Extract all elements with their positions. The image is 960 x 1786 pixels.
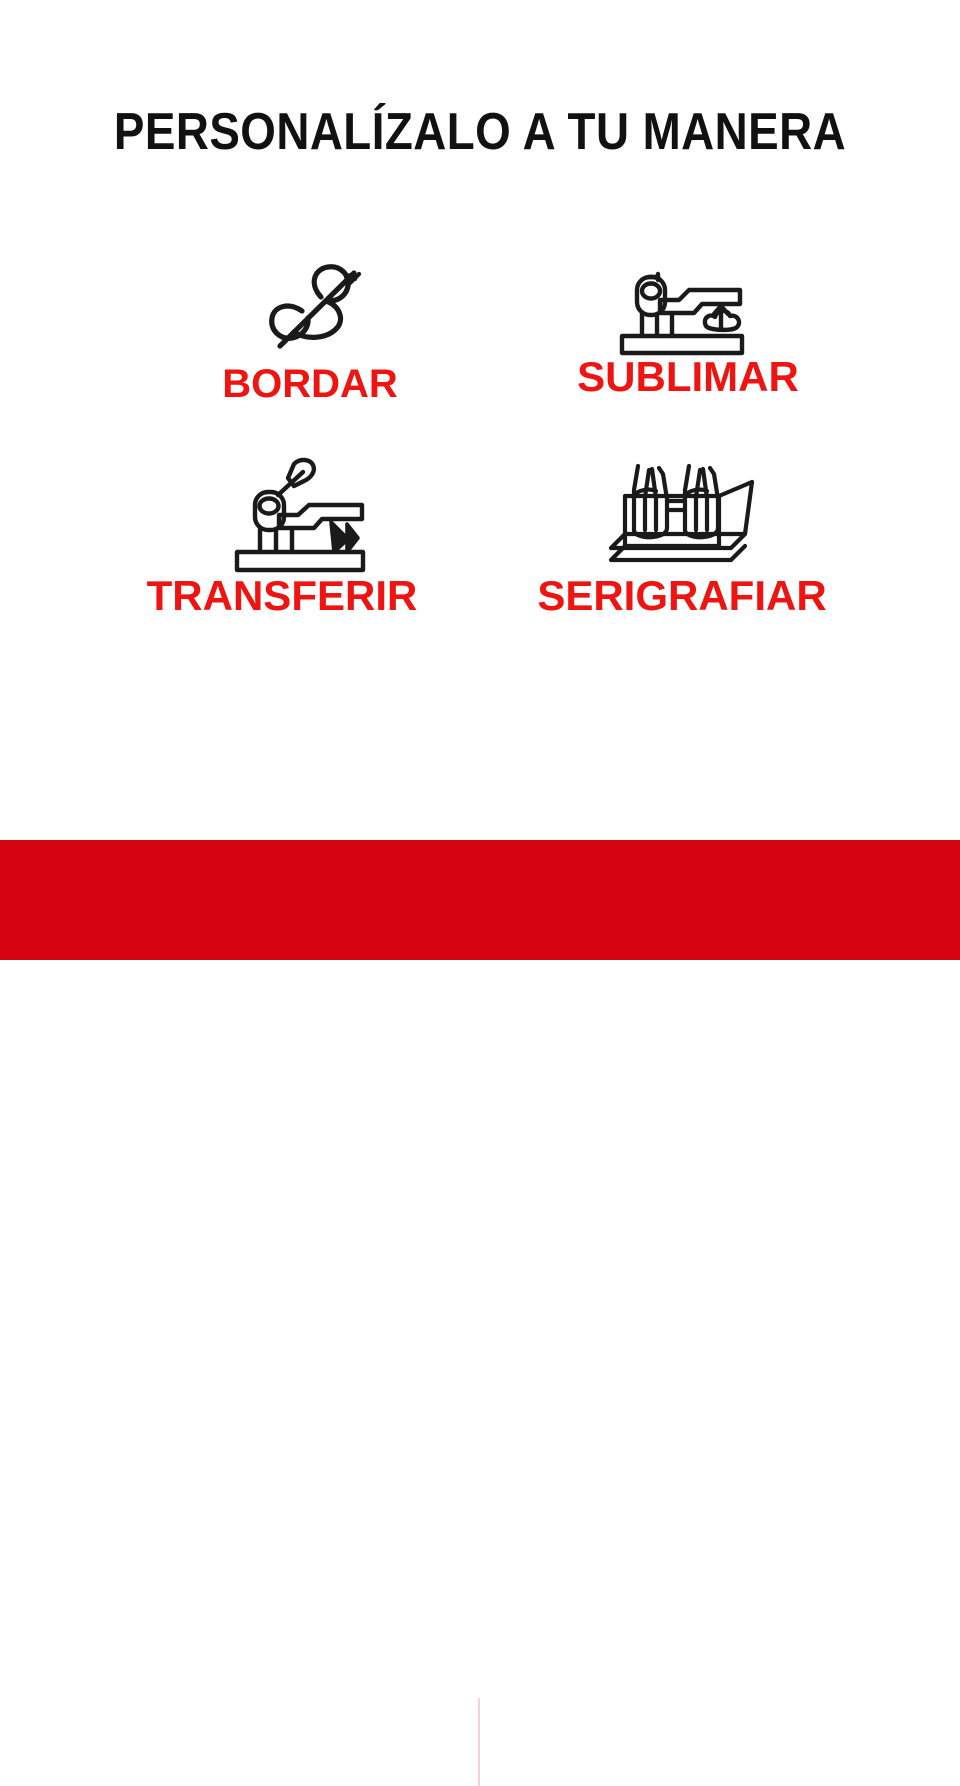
method-label-sublimar: SUBLIMAR (508, 356, 868, 398)
method-card-bordar[interactable]: BORDAR (120, 230, 480, 430)
needle-and-thread-icon (138, 242, 498, 370)
logo-swoosh-icon (532, 1748, 748, 1774)
footer-divider (478, 1698, 480, 1786)
logo-wordmark: PlanetSport (530, 1702, 751, 1748)
method-card-sublimar[interactable]: SUBLIMAR (480, 230, 840, 430)
method-label-serigrafiar: SERIGRAFIAR (502, 575, 862, 617)
planetsport-logo[interactable]: PlanetSport (530, 1702, 760, 1784)
method-label-bordar: BORDAR (130, 364, 490, 404)
poster-canvas: PERSONALÍZALO A TU MANERA (0, 0, 960, 960)
page-title: PERSONALÍZALO A TU MANERA (58, 104, 903, 160)
screen-printing-hands-icon (502, 447, 862, 575)
method-label-transferir: TRANSFERIR (102, 575, 462, 617)
footer-bar: PlanetSport (0, 840, 960, 960)
method-card-transferir[interactable]: TRANSFERIR (120, 445, 480, 645)
heat-press-lever-icon (120, 453, 480, 581)
methods-grid: BORDAR (120, 230, 840, 670)
method-card-serigrafiar[interactable]: SERIGRAFIAR (480, 445, 840, 645)
